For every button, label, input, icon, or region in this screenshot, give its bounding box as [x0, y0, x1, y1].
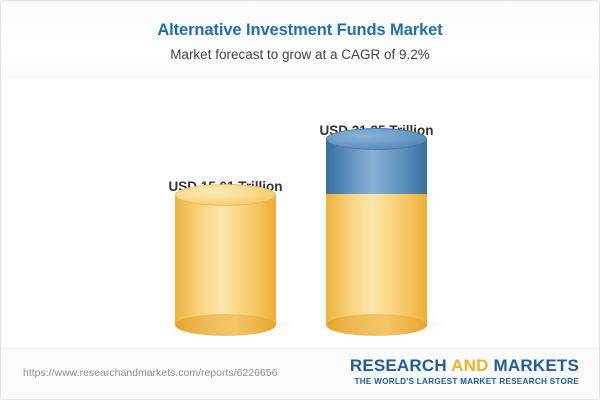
bar-segment-yellow — [326, 194, 427, 325]
segment-top-ellipse — [175, 184, 276, 206]
bar-segment-blue — [326, 139, 427, 194]
brand-wordmark: RESEARCH AND MARKETS — [350, 356, 579, 376]
chart-subtitle: Market forecast to grow at a CAGR of 9.2… — [1, 46, 599, 63]
footer: https://www.researchandmarkets.com/repor… — [1, 349, 599, 399]
brand-word-markets: MARKETS — [494, 356, 579, 375]
segment-bottom-ellipse — [175, 314, 276, 336]
segment-top-ellipse — [326, 128, 427, 150]
segment-body — [326, 194, 427, 325]
brand-tagline: THE WORLD'S LARGEST MARKET RESEARCH STOR… — [350, 377, 579, 387]
segment-body — [175, 195, 276, 325]
brand-word-and: AND — [451, 356, 488, 375]
bar-segment-yellow — [175, 195, 276, 325]
source-url-link[interactable]: https://www.researchandmarkets.com/repor… — [23, 367, 277, 380]
segment-bottom-ellipse — [326, 314, 427, 336]
chart-header: Alternative Investment Funds Market Mark… — [1, 1, 599, 63]
cylinder-bar-2026 — [175, 195, 276, 325]
page-title: Alternative Investment Funds Market — [1, 20, 599, 40]
chart-plot-area: USD 15.01 Trillion 2026 USD 21.35 Trilli… — [1, 79, 599, 347]
cylinder-bar-2030 — [326, 139, 427, 325]
brand-word-research: RESEARCH — [350, 356, 447, 375]
brand-logo: RESEARCH AND MARKETS THE WORLD'S LARGEST… — [350, 356, 579, 387]
infographic-card: Alternative Investment Funds Market Mark… — [0, 0, 600, 400]
